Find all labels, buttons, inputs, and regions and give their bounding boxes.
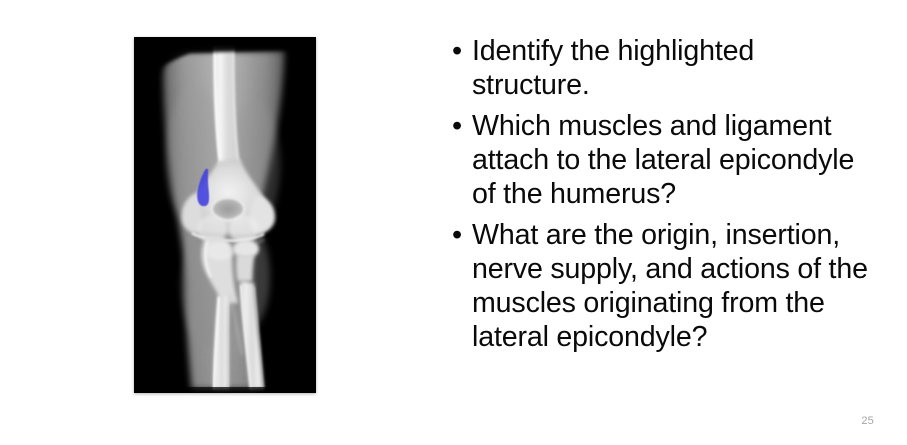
question-list: • Identify the highlighted structure. • … [452,34,876,361]
slide-number: 25 [861,415,874,427]
bullet-text: Which muscles and ligament attach to the… [472,109,876,211]
bullet-marker-icon: • [452,218,472,252]
slide-canvas: • Identify the highlighted structure. • … [0,0,907,445]
list-item: • Which muscles and ligament attach to t… [452,109,876,211]
bullet-marker-icon: • [452,109,472,143]
list-item: • Identify the highlighted structure. [452,34,876,102]
bullet-text: Identify the highlighted structure. [472,34,876,102]
bullet-marker-icon: • [452,34,472,68]
radiograph-svg [134,37,316,393]
bullet-text: What are the origin, insertion, nerve su… [472,218,876,354]
list-item: • What are the origin, insertion, nerve … [452,218,876,354]
elbow-radiograph-image [134,37,316,393]
